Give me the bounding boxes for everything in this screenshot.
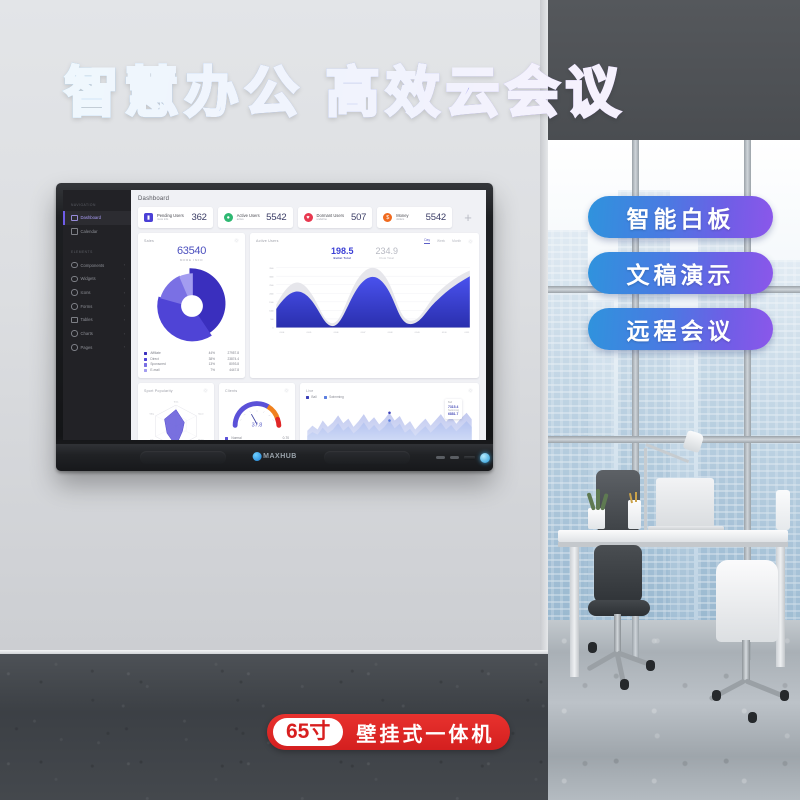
feature-pill-presentation[interactable]: 文稿演示 <box>588 252 773 294</box>
kpi-sublabel: dollars <box>396 218 408 222</box>
sales-donut-chart <box>150 264 234 348</box>
sidebar-section-elements: ELEMENTS <box>63 238 131 258</box>
bullet-total-area <box>276 276 470 327</box>
chair-caster-wheel <box>712 690 721 701</box>
tab-day[interactable]: Day <box>424 238 430 244</box>
star-icon <box>71 289 78 296</box>
kpi-card-active-users[interactable]: ● Active Users active 5542 <box>218 207 293 228</box>
legend-swatch <box>144 363 147 366</box>
legend-percent: 7% <box>199 368 215 374</box>
chart-icon <box>71 330 78 337</box>
legend-row: E-mail 7% 4447.8 <box>144 368 239 374</box>
sidebar-item-tables[interactable]: Tables › <box>63 313 131 327</box>
widget-icon <box>71 276 78 283</box>
legend-swatch <box>324 396 327 399</box>
interactive-flat-panel: NAVIGATION Dashboard Calendar ELEMENTS C… <box>56 183 493 471</box>
banner-headline: 智慧办公 高效云会议 <box>0 62 690 124</box>
feature-pill-smart-whiteboard[interactable]: 智能白板 <box>588 196 773 238</box>
card-title: Clients <box>225 389 237 393</box>
speaker-grille-right <box>324 451 410 464</box>
brand-logo-text: MAXHUB <box>263 453 297 460</box>
svg-text:2500: 2500 <box>269 285 273 287</box>
gear-icon[interactable] <box>203 388 208 393</box>
card-title: Live <box>306 389 313 393</box>
sidebar-item-forms[interactable]: Forms › <box>63 299 131 313</box>
table-icon <box>71 317 78 324</box>
power-indicator[interactable] <box>480 453 490 463</box>
sidebar-item-label: Tables <box>81 317 93 322</box>
bezel-button-source[interactable] <box>450 456 459 459</box>
legend-label: E-mail <box>150 368 199 374</box>
kpi-card-pending-users[interactable]: ▮ Pending Users more info 362 <box>138 207 213 228</box>
card-title: Sport Popularity <box>144 389 173 393</box>
sidebar-item-label: Calendar <box>81 229 98 234</box>
chair-caster-wheel <box>646 660 655 671</box>
white-chair-post <box>742 640 750 680</box>
sidebar-item-calendar[interactable]: Calendar <box>63 225 131 239</box>
svg-text:3500: 3500 <box>269 268 273 270</box>
sidebar-item-components[interactable]: Components › <box>63 258 131 272</box>
banner-stage: 智慧办公 高效云会议 智能白板 文稿演示 远程会议 65寸 壁挂式一体机 NAV… <box>0 0 800 800</box>
pencil <box>635 492 637 502</box>
chair-caster-wheel <box>748 712 757 723</box>
white-chair-backrest <box>716 560 778 642</box>
desk-top <box>558 530 788 542</box>
product-size-chip: 65寸 <box>273 718 343 746</box>
kpi-value: 5542 <box>266 212 286 223</box>
radar-axis-label: Volley <box>149 414 154 416</box>
charts-row-secondary: Sport Popularity <box>138 383 479 440</box>
legend-swatch <box>225 437 228 440</box>
add-card-button[interactable]: + <box>457 207 479 228</box>
heart-icon: ♥ <box>304 213 313 222</box>
donut-legend: Affiliate 44% 27957.8 Direct 38% 23874.4 <box>144 351 239 373</box>
kpi-sublabel: more info <box>157 218 184 222</box>
gauge-legend: Normal 0-70 Warning 70-90 <box>225 436 289 440</box>
area-totals: 198.5 Bullet Total 234.9 Flow Total <box>256 246 473 260</box>
dashboard-sidebar: NAVIGATION Dashboard Calendar ELEMENTS C… <box>63 190 131 440</box>
live-chart-card: Live Ball <box>300 383 479 440</box>
live-chart-tooltip: Ball 7315.4 Swimming 6881.7 <box>445 399 462 418</box>
live-point-marker <box>388 420 391 423</box>
coin-icon: $ <box>383 213 392 222</box>
kpi-sublabel: active <box>237 218 260 222</box>
gauge-value: 37.8 <box>252 423 263 429</box>
brand-logo-mark <box>252 452 261 461</box>
bookmark-icon: ▮ <box>144 213 153 222</box>
card-title: Active Users <box>256 239 279 243</box>
bezel-button-menu[interactable] <box>436 456 445 459</box>
radar-axis-label: Soccer <box>198 414 204 416</box>
kpi-sublabel: undefine <box>317 218 345 222</box>
sidebar-item-label: Pages <box>81 345 93 350</box>
kpi-value: 362 <box>191 212 206 223</box>
svg-text:01-06: 01-06 <box>334 332 339 334</box>
legend-label: Swimming <box>329 395 344 399</box>
sidebar-item-label: Charts <box>81 331 93 336</box>
page-title: Dashboard <box>138 196 479 202</box>
kpi-card-dormant-users[interactable]: ♥ Dormant Users undefine 507 <box>298 207 373 228</box>
pen-cup <box>628 500 641 529</box>
flow-total-label: Flow Total <box>376 256 399 260</box>
display-screen[interactable]: NAVIGATION Dashboard Calendar ELEMENTS C… <box>63 190 486 440</box>
sidebar-item-label: Dashboard <box>81 215 102 220</box>
form-icon <box>71 303 78 310</box>
svg-text:500: 500 <box>270 319 273 321</box>
tab-week[interactable]: Week <box>437 239 445 243</box>
svg-text:01-04: 01-04 <box>280 332 285 334</box>
skyline-tower <box>548 230 588 660</box>
clients-gauge-card: Clients <box>219 383 295 440</box>
chat-icon: ● <box>224 213 233 222</box>
grid-icon <box>71 262 78 269</box>
card-title: Sales <box>144 239 154 243</box>
legend-swatch <box>144 352 147 355</box>
radar-axis-label: Tennis <box>174 402 179 404</box>
dashboard-main: Dashboard ▮ Pending Users more info 362 <box>131 190 486 440</box>
svg-text:01-11: 01-11 <box>465 332 470 334</box>
chair-caster-wheel <box>780 690 789 701</box>
live-point-marker <box>388 412 391 415</box>
legend-swatch <box>144 358 147 361</box>
plant-pot <box>588 508 605 529</box>
legend-swatch <box>306 396 309 399</box>
water-bottle <box>776 490 790 530</box>
laptop-screen <box>656 478 714 528</box>
feature-pill-list: 智能白板 文稿演示 远程会议 <box>588 196 780 364</box>
svg-text:3000: 3000 <box>269 276 273 278</box>
clients-gauge-chart: 37.8 <box>225 395 289 429</box>
sidebar-item-pages[interactable]: Pages › <box>63 341 131 355</box>
active-users-area-chart: 35003000 25002000 15001000 5000 <box>256 262 473 336</box>
desk-lamp-stem <box>644 448 647 532</box>
feature-pill-remote-meeting[interactable]: 远程会议 <box>588 308 773 350</box>
calendar-icon <box>71 228 78 235</box>
desk-edge <box>558 542 788 547</box>
donut-total-sub: MORE INFO <box>144 258 239 262</box>
chevron-right-icon: › <box>124 345 125 349</box>
bezel-ir-sensor <box>464 456 475 460</box>
charts-row-primary: Sales 63540 MORE INFO <box>138 233 479 378</box>
chevron-right-icon: › <box>124 291 125 295</box>
desk-leg <box>570 547 579 677</box>
radar-series-polygon <box>164 410 184 440</box>
black-chair-lower-back <box>594 545 642 603</box>
svg-text:01-07: 01-07 <box>361 332 366 334</box>
svg-text:0: 0 <box>272 328 273 330</box>
sidebar-item-label: Icons <box>81 290 91 295</box>
legend-swatch <box>144 369 147 372</box>
sidebar-item-icons[interactable]: Icons › <box>63 286 131 300</box>
gauge-band-danger <box>278 420 279 426</box>
speaker-grille-left <box>140 451 226 464</box>
gear-icon[interactable] <box>468 388 473 393</box>
office-floor <box>548 620 800 800</box>
chevron-right-icon: › <box>124 332 125 336</box>
chair-caster-wheel <box>620 679 629 690</box>
svg-text:2000: 2000 <box>269 293 273 295</box>
product-type-label: 壁挂式一体机 <box>356 718 494 747</box>
product-size-tag: 65寸 壁挂式一体机 <box>267 714 510 750</box>
kpi-row: ▮ Pending Users more info 362 ● Active U… <box>138 207 479 228</box>
chevron-right-icon: › <box>124 263 125 267</box>
sidebar-item-label: Widgets <box>81 276 96 281</box>
chair-caster-wheel <box>588 642 597 653</box>
sidebar-item-widgets[interactable]: Widgets › <box>63 272 131 286</box>
chevron-right-icon: › <box>124 304 125 308</box>
gear-icon[interactable] <box>284 388 289 393</box>
svg-text:01-05: 01-05 <box>307 332 312 334</box>
sport-popularity-card: Sport Popularity <box>138 383 214 440</box>
legend-value: 4447.8 <box>215 368 239 374</box>
brand-logo: MAXHUB <box>252 452 297 461</box>
dashboard-app: NAVIGATION Dashboard Calendar ELEMENTS C… <box>63 190 486 440</box>
gear-icon[interactable] <box>234 238 239 243</box>
svg-text:1000: 1000 <box>269 311 273 313</box>
sport-popularity-radar-chart: Tennis Soccer Hockey Basketball Golf Vol… <box>144 395 208 440</box>
home-icon <box>71 215 78 222</box>
flow-total-value: 234.9 <box>376 246 399 256</box>
kpi-card-money[interactable]: $ Money dollars 5542 <box>377 207 452 228</box>
svg-text:01-09: 01-09 <box>415 332 420 334</box>
legend-range: 0-70 <box>265 436 289 440</box>
window-mullion-horizontal <box>548 436 800 443</box>
donut-total-value: 63540 <box>144 245 239 258</box>
plant-leaf <box>596 489 600 510</box>
sales-donut-card: Sales 63540 MORE INFO <box>138 233 245 378</box>
legend-label: Ball <box>311 395 316 399</box>
active-users-area-card: Active Users Day Week Month <box>250 233 479 378</box>
tab-month[interactable]: Month <box>452 239 461 243</box>
chevron-right-icon: › <box>124 318 125 322</box>
sidebar-item-label: Components <box>81 263 105 268</box>
chevron-right-icon: › <box>124 277 125 281</box>
kpi-value: 507 <box>351 212 366 223</box>
sidebar-item-charts[interactable]: Charts › <box>63 327 131 341</box>
bullet-total-label: Bullet Total <box>331 256 354 260</box>
legend-row: Normal 0-70 <box>225 436 289 440</box>
tooltip-series-value: 6881.7 <box>448 412 459 416</box>
gear-icon[interactable] <box>468 239 473 244</box>
bullet-total-value: 198.5 <box>331 246 354 256</box>
sidebar-section-navigation: NAVIGATION <box>63 196 131 211</box>
sidebar-item-dashboard[interactable]: Dashboard <box>63 211 131 225</box>
legend-label: Normal <box>231 436 265 440</box>
kpi-value: 5542 <box>426 212 446 223</box>
svg-text:01-08: 01-08 <box>388 332 393 334</box>
svg-text:1500: 1500 <box>269 302 273 304</box>
area-chart-tabs: Day Week Month <box>424 238 473 244</box>
display-bottom-bezel: MAXHUB <box>56 444 493 471</box>
page-icon <box>71 344 78 351</box>
sidebar-item-label: Forms <box>81 304 93 309</box>
black-chair-post <box>614 614 621 652</box>
svg-text:01-10: 01-10 <box>442 332 447 334</box>
